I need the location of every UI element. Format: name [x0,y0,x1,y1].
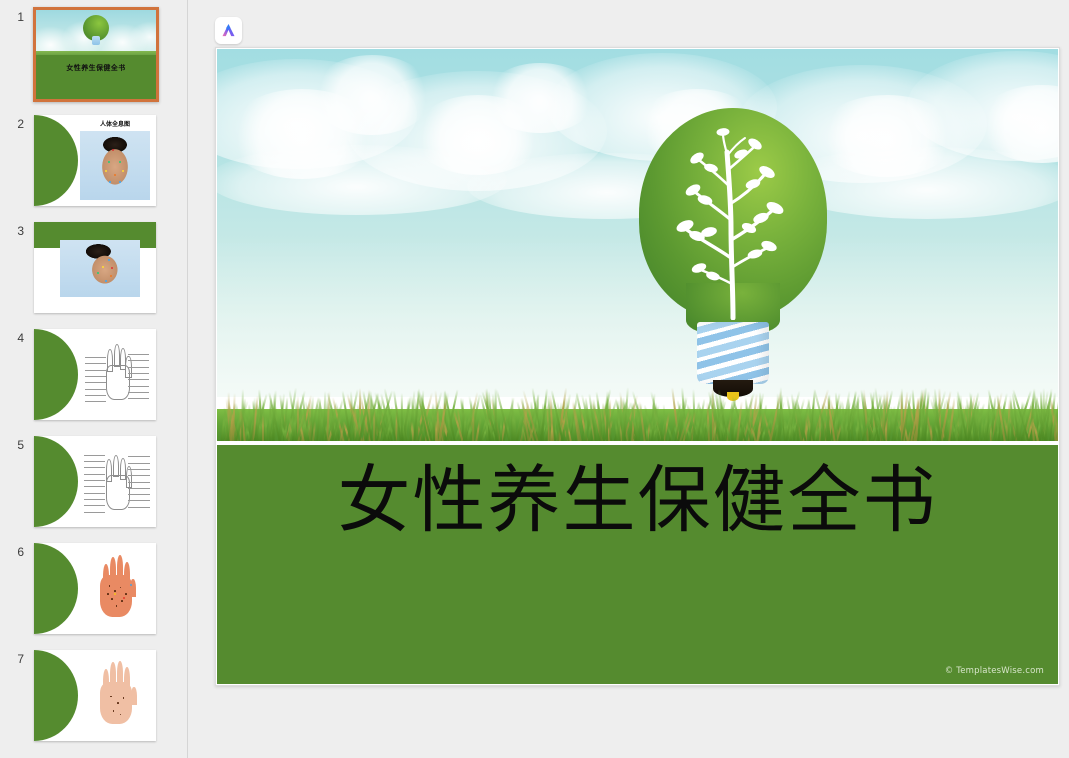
mini-green-panel [36,55,156,100]
mini-content-slide [34,543,156,634]
mini-green-sidebar [34,543,78,634]
mini-title-slide: 女性养生保健全书 [36,10,156,99]
mini-slide-heading: 人体全息图 [78,119,152,129]
slide-thumbnail-panel[interactable]: 1 女性养生保健全书 2 [0,0,188,758]
main-area: 女性养生保健全书 © TemplatesWise.com [188,0,1069,758]
title-panel: 女性养生保健全书 © TemplatesWise.com [217,445,1058,684]
mini-hand-color-chart [82,547,152,630]
slide-number-7: 7 [0,652,24,666]
bulb-screw-base [697,322,769,384]
mini-slide-title: 女性养生保健全书 [36,63,156,73]
slide-number-5: 5 [0,438,24,452]
sky-haze [217,237,1058,397]
thumbnail-row-2[interactable]: 2 人体全息图 [0,107,172,214]
green-light-bulb [639,108,827,400]
thumbnail-scrollbar-track[interactable] [172,0,184,758]
thumbnail-list: 1 女性养生保健全书 2 [0,0,172,749]
mini-content-slide [34,650,156,741]
thumbnail-slide-4[interactable] [34,329,156,420]
slide-number-4: 4 [0,331,24,345]
thumbnail-row-3[interactable]: 3 [0,214,172,321]
thumbnail-slide-3[interactable] [34,222,156,313]
sky-background [217,49,1058,397]
slide-number-6: 6 [0,545,24,559]
mini-bulb-icon [83,15,109,47]
slide-number-3: 3 [0,224,24,238]
thumbnail-slide-1[interactable]: 女性养生保健全书 [33,7,159,102]
slide-number-1: 1 [0,10,24,24]
mini-hand-reflex-diagram [82,442,152,521]
mini-green-sidebar [34,329,78,420]
thumbnail-slide-5[interactable] [34,436,156,527]
slide-number-2: 2 [0,117,24,131]
thumbnail-row-4[interactable]: 4 [0,321,172,428]
watermark-text: © TemplatesWise.com [945,666,1044,676]
mini-palm-organ-map [82,654,152,737]
mini-face-chart [80,131,150,200]
grass-strip [217,379,1058,443]
mini-green-sidebar [34,115,78,206]
mini-green-sidebar [34,650,78,741]
thumbnail-slide-6[interactable] [34,543,156,634]
slide-title: 女性养生保健全书 [217,463,1058,540]
app-logo-icon[interactable] [215,17,242,44]
tree-vine-icon [639,108,827,320]
thumbnail-row-1[interactable]: 1 女性养生保健全书 [0,0,172,107]
thumbnail-row-5[interactable]: 5 [0,428,172,535]
thumbnail-slide-7[interactable] [34,650,156,741]
mini-content-slide [34,222,156,313]
slide-frame[interactable]: 女性养生保健全书 © TemplatesWise.com [215,47,1060,686]
mini-content-slide [34,436,156,527]
presentation-viewer: 1 女性养生保健全书 2 [0,0,1069,758]
mini-content-slide: 人体全息图 [34,115,156,206]
mini-hand-diagram [82,335,152,414]
thumbnail-slide-2[interactable]: 人体全息图 [34,115,156,206]
mini-content-slide [34,329,156,420]
slide-canvas: 女性养生保健全书 © TemplatesWise.com [217,49,1058,684]
mini-face-profile-chart [60,240,140,297]
thumbnail-row-6[interactable]: 6 [0,535,172,642]
thumbnail-row-7[interactable]: 7 [0,642,172,749]
mini-green-sidebar [34,436,78,527]
